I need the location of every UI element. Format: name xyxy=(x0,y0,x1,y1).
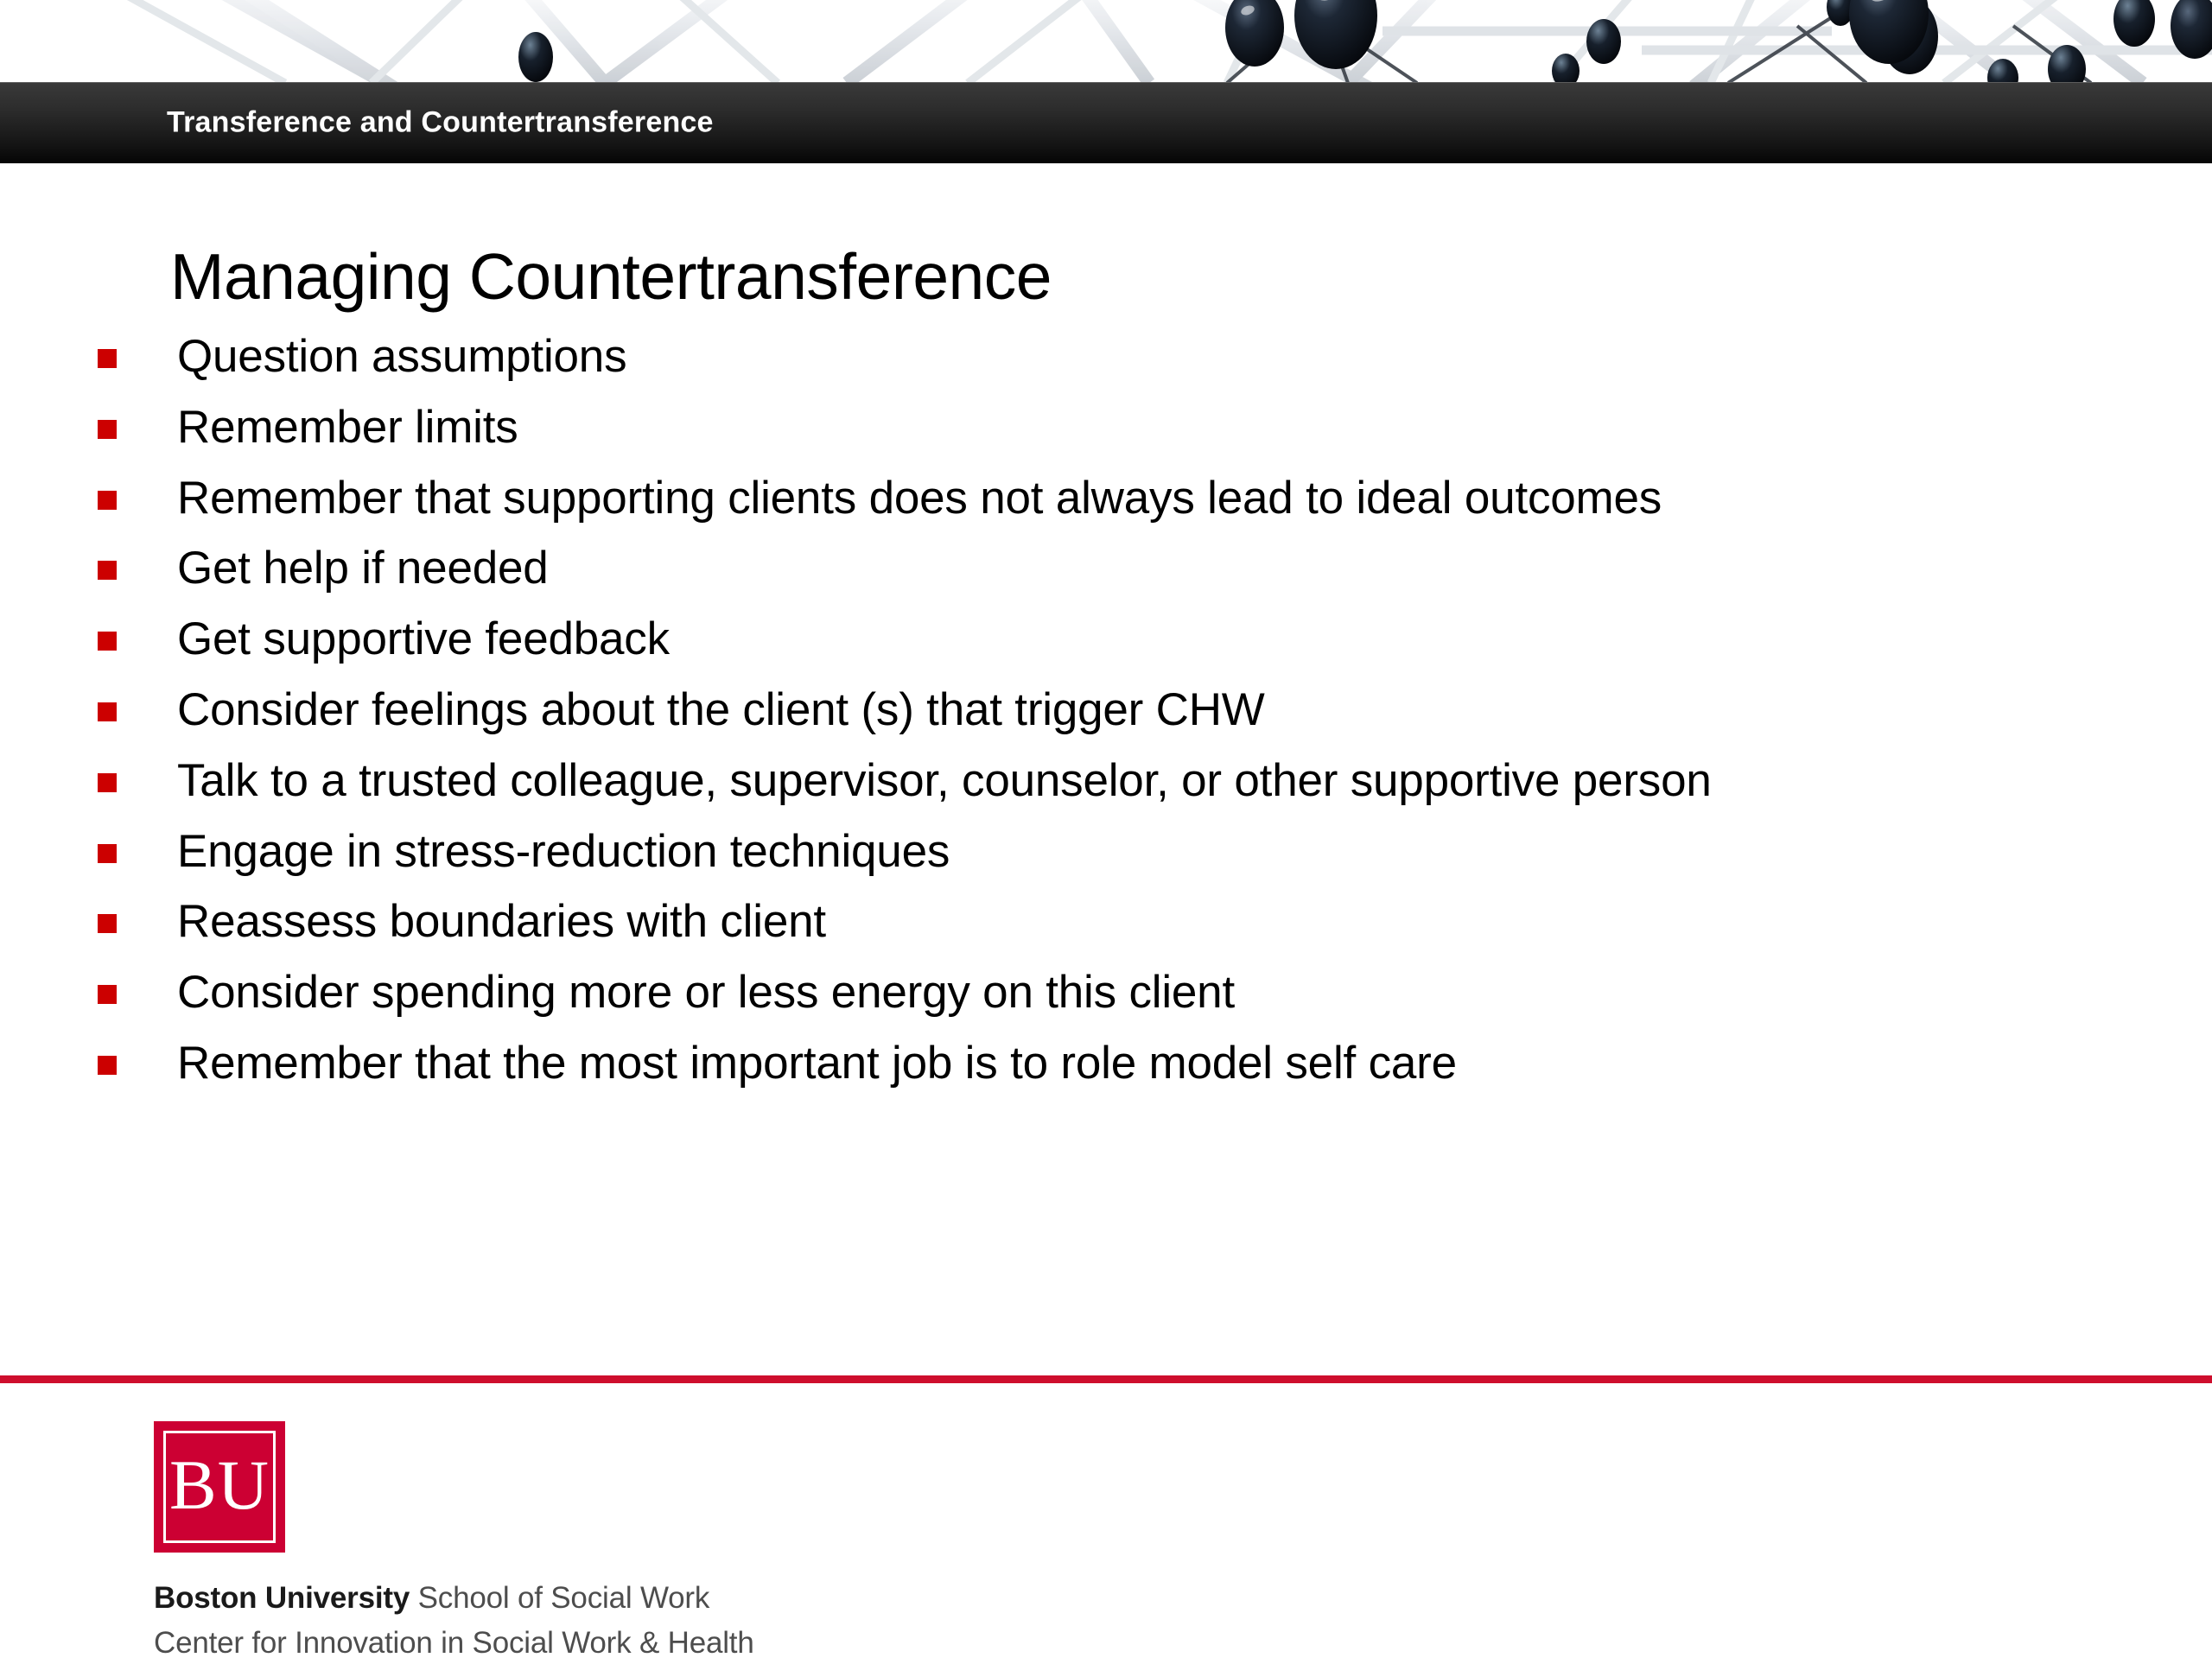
slide: Transference and Countertransference Man… xyxy=(0,0,2212,1659)
footer-center-name: Center for Innovation in Social Work & H… xyxy=(154,1623,754,1664)
list-item: Get supportive feedback xyxy=(0,613,2212,667)
bu-logo-icon: BU xyxy=(154,1421,285,1553)
square-bullet-icon xyxy=(98,561,117,580)
square-bullet-icon xyxy=(98,632,117,651)
footer-branding: BU Boston University School of Social Wo… xyxy=(154,1421,754,1664)
list-item: Remember that supporting clients does no… xyxy=(0,472,2212,526)
list-item-label: Talk to a trusted colleague, supervisor,… xyxy=(177,754,2160,809)
square-bullet-icon xyxy=(98,914,117,933)
list-item-label: Reassess boundaries with client xyxy=(177,895,2160,949)
list-item-label: Consider feelings about the client (s) t… xyxy=(177,683,2160,738)
square-bullet-icon xyxy=(98,349,117,368)
list-item: Get help if needed xyxy=(0,542,2212,596)
list-item: Question assumptions xyxy=(0,330,2212,384)
molecule-network-graphic xyxy=(0,0,2212,83)
square-bullet-icon xyxy=(98,985,117,1004)
list-item-label: Engage in stress-reduction techniques xyxy=(177,825,2160,880)
list-item: Remember limits xyxy=(0,401,2212,455)
list-item-label: Remember that the most important job is … xyxy=(177,1037,2160,1091)
list-item: Talk to a trusted colleague, supervisor,… xyxy=(0,754,2212,809)
list-item-label: Remember limits xyxy=(177,401,2160,455)
bullet-list: Question assumptions Remember limits Rem… xyxy=(0,330,2212,1108)
square-bullet-icon xyxy=(98,844,117,863)
list-item: Consider spending more or less energy on… xyxy=(0,966,2212,1020)
footer-school-line: Boston University School of Social Work xyxy=(154,1578,754,1619)
list-item-label: Get help if needed xyxy=(177,542,2160,596)
list-item-label: Consider spending more or less energy on… xyxy=(177,966,2160,1020)
square-bullet-icon xyxy=(98,702,117,721)
list-item: Engage in stress-reduction techniques xyxy=(0,825,2212,880)
square-bullet-icon xyxy=(98,420,117,439)
bu-logo-letters: BU xyxy=(169,1450,270,1521)
section-header-bar: Transference and Countertransference xyxy=(0,82,2212,163)
square-bullet-icon xyxy=(98,1056,117,1075)
list-item: Remember that the most important job is … xyxy=(0,1037,2212,1091)
footer-school-name: School of Social Work xyxy=(410,1581,709,1615)
list-item: Consider feelings about the client (s) t… xyxy=(0,683,2212,738)
footer-university-name: Boston University xyxy=(154,1581,410,1615)
list-item-label: Get supportive feedback xyxy=(177,613,2160,667)
square-bullet-icon xyxy=(98,773,117,792)
section-header-label: Transference and Countertransference xyxy=(167,106,714,140)
footer-divider xyxy=(0,1375,2212,1383)
list-item-label: Remember that supporting clients does no… xyxy=(177,472,2160,526)
list-item-label: Question assumptions xyxy=(177,330,2160,384)
list-item: Reassess boundaries with client xyxy=(0,895,2212,949)
square-bullet-icon xyxy=(98,491,117,510)
page-title: Managing Countertransference xyxy=(170,239,1052,314)
